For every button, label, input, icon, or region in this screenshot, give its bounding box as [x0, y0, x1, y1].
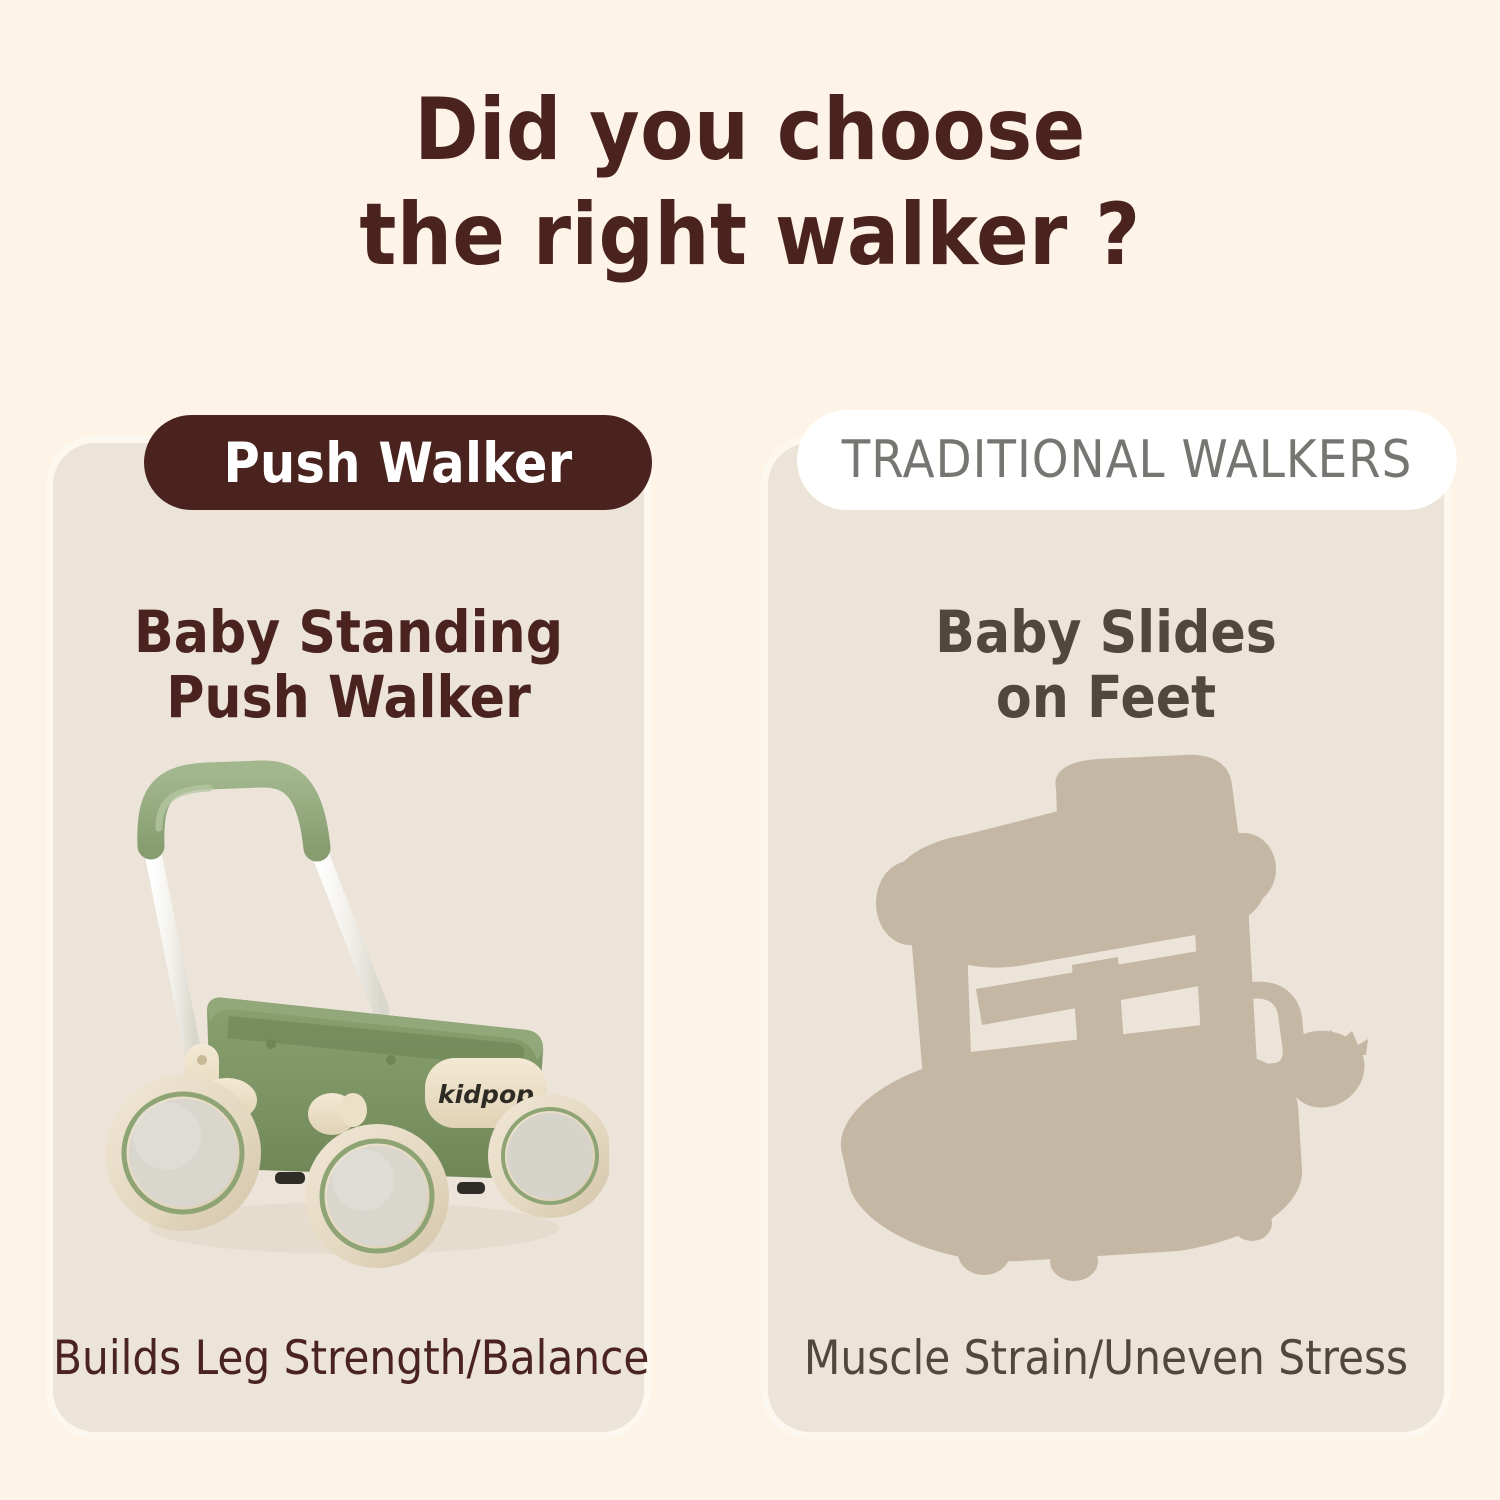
walker-pole-left	[151, 843, 194, 1058]
badge-push-walker: Push Walker	[144, 415, 652, 510]
push-walker-caption: Builds Leg Strength/Balance	[53, 1331, 644, 1386]
wheel-front-left	[105, 1075, 261, 1231]
page-title: Did you choose the right walker ?	[0, 78, 1500, 288]
traditional-walker-silhouette-shape	[841, 755, 1368, 1281]
walker-pole-right	[317, 846, 381, 1010]
bracket-screw-icon	[197, 1055, 207, 1065]
screw-icon-2	[386, 1055, 396, 1065]
traditional-walker-heading-line-1: Baby Slides	[768, 600, 1444, 665]
push-walker-illustration: kidpop	[89, 758, 609, 1288]
traditional-walker-heading-line-2: on Feet	[768, 665, 1444, 730]
badge-traditional-walkers-label: TRADITIONAL WALKERS	[842, 430, 1413, 490]
walker-foot-1	[275, 1172, 305, 1184]
walker-handle-grip	[150, 774, 316, 848]
page-title-line-2: the right walker ?	[0, 183, 1500, 288]
traditional-walker-caption: Muscle Strain/Uneven Stress	[768, 1331, 1444, 1386]
traditional-walker-image	[768, 753, 1444, 1333]
badge-traditional-walkers: TRADITIONAL WALKERS	[797, 410, 1457, 510]
comparison-card-traditional-walker: Baby Slides on Feet	[768, 443, 1444, 1432]
screw-icon-1	[266, 1039, 276, 1049]
traditional-walker-illustration	[806, 753, 1406, 1293]
badge-push-walker-label: Push Walker	[223, 431, 572, 495]
comparison-card-push-walker: Baby Standing Push Walker	[53, 443, 644, 1432]
page-title-line-1: Did you choose	[0, 78, 1500, 183]
walker-foot-2	[457, 1182, 485, 1194]
traditional-walker-heading: Baby Slides on Feet	[768, 600, 1444, 730]
push-walker-heading-line-1: Baby Standing	[53, 600, 644, 665]
wheel-rear-right	[488, 1094, 609, 1218]
push-walker-image: kidpop	[53, 758, 644, 1318]
push-walker-heading: Baby Standing Push Walker	[53, 600, 644, 730]
infographic-root: Did you choose the right walker ? Baby S…	[0, 0, 1500, 1500]
push-walker-heading-line-2: Push Walker	[53, 665, 644, 730]
wheel-front-right	[305, 1124, 449, 1268]
